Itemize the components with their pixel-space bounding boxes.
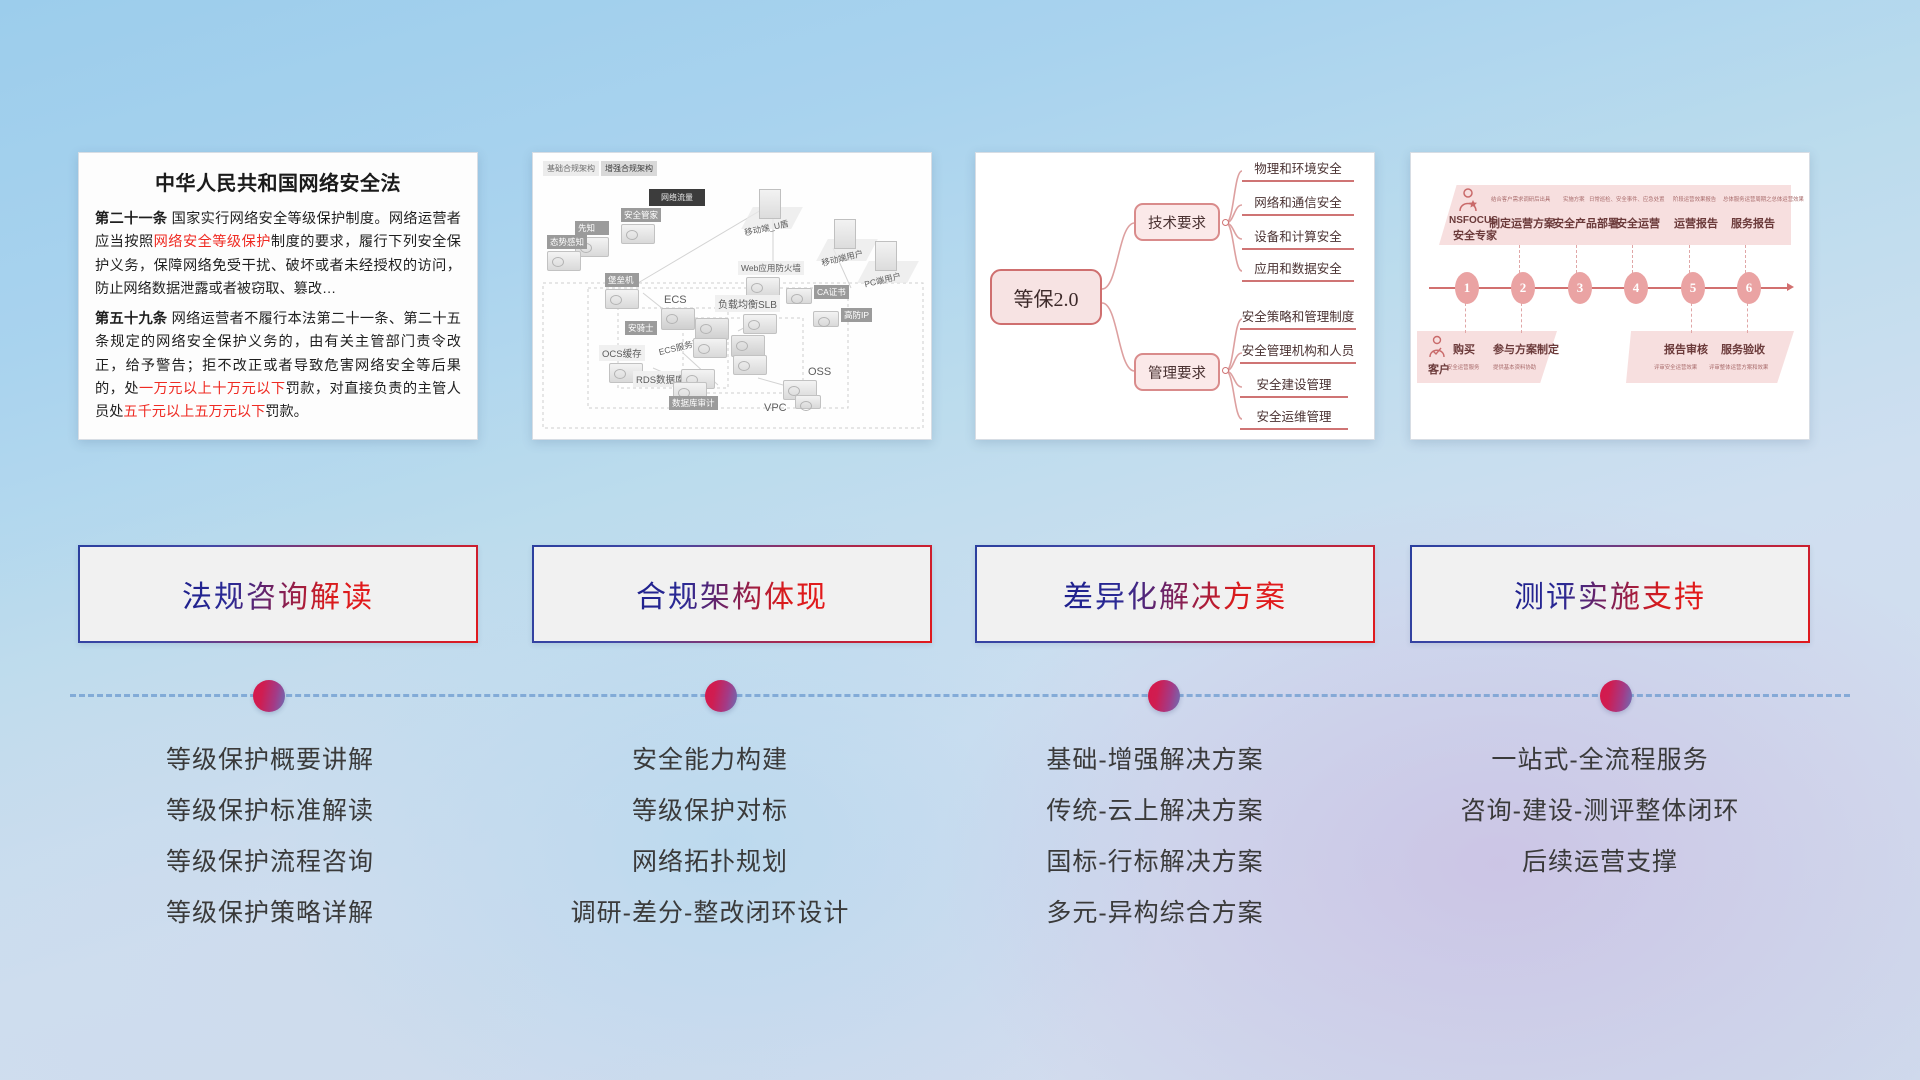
list-item: 后续运营支撑 — [1385, 837, 1815, 888]
section-list-2: 安全能力构建 等级保护对标 网络拓扑规划 调研-差分-整改闭环设计 — [495, 735, 925, 939]
timeline-dot-2[interactable] — [705, 680, 737, 712]
roadmap-axis-arrow-icon — [1787, 283, 1794, 291]
mindmap-leaf: 安全建设管理 — [1240, 374, 1348, 398]
nsfocus-roadmap-card[interactable]: NSFOCUS 安全专家 客户 1 2 3 4 5 6 — [1410, 152, 1810, 440]
roadmap-top-label: 安全产品部署 — [1553, 215, 1619, 231]
list-item: 网络拓扑规划 — [495, 837, 925, 888]
roadmap-top-label: 运营报告 — [1674, 215, 1718, 231]
node-mobile-ukey: 移动端_U盾 — [753, 189, 804, 233]
list-item: 多元-异构综合方案 — [940, 888, 1370, 939]
node-ecs-instance-c — [731, 335, 765, 357]
mindmap-collapse-dot-management[interactable] — [1222, 367, 1229, 374]
node-ecs-instance-d — [733, 355, 767, 375]
node-anqishi: 安骑士 — [625, 321, 657, 335]
roadmap-top-sub: 实施方案 — [1563, 195, 1585, 203]
section-list-3: 基础-增强解决方案 传统-云上解决方案 国标-行标解决方案 多元-异构综合方案 — [940, 735, 1370, 939]
law-run-highlight: 五千元以上五万元以下 — [123, 404, 265, 420]
list-item: 等级保护流程咨询 — [55, 837, 485, 888]
timeline-dot-1[interactable] — [253, 680, 285, 712]
roadmap-bottom-sub: 评审安全运营效果 — [1654, 363, 1697, 371]
roadmap-top-sub: 总体服务运营周期之总体运营效果 — [1723, 195, 1804, 203]
roadmap-bottom-label: 参与方案制定 — [1493, 341, 1559, 357]
section-detail-rows: 等级保护概要讲解 等级保护标准解读 等级保护流程咨询 等级保护策略详解 安全能力… — [0, 735, 1920, 995]
mindmap-leaf: 安全策略和管理制度 — [1240, 306, 1356, 330]
law-run-highlight: 一万元以上十万元以下 — [139, 381, 286, 397]
list-item: 等级保护对标 — [495, 786, 925, 837]
mindmap-collapse-dot-technical[interactable] — [1222, 219, 1229, 226]
list-item: 国标-行标解决方案 — [940, 837, 1370, 888]
roadmap-bottom-label: 服务验收 — [1721, 341, 1765, 357]
roadmap-step-1: 1 — [1455, 272, 1479, 304]
roadmap-bottom-sub: 评审整体运营方案和效果 — [1709, 363, 1768, 371]
roadmap-step-3: 3 — [1568, 272, 1592, 304]
timeline — [0, 666, 1920, 726]
roadmap-top-sub: 结合客户需求调研后出具 — [1491, 195, 1550, 203]
list-item: 等级保护策略详解 — [55, 888, 485, 939]
list-item: 调研-差分-整改闭环设计 — [495, 888, 925, 939]
roadmap-bottom-label: 报告审核 — [1664, 341, 1708, 357]
timeline-dot-4[interactable] — [1600, 680, 1632, 712]
law-card[interactable]: 中华人民共和国网络安全法 第二十一条 国家实行网络安全等级保护制度。网络运营者应… — [78, 152, 478, 440]
list-item: 安全能力构建 — [495, 735, 925, 786]
law-run-highlight: 网络安全等级保护 — [154, 234, 271, 250]
roadmap-top-label: 制定运营方案 — [1489, 215, 1555, 231]
timeline-dot-3[interactable] — [1148, 680, 1180, 712]
section-title-text: 差异化解决方案 — [1063, 572, 1287, 616]
mindmap-card[interactable]: 等保2.0 技术要求 物理和环境安全 网络和通信安全 设备和计算安全 应用和数据… — [975, 152, 1375, 440]
node-pc-user: PC端用户 — [869, 241, 912, 285]
mindmap-branch-technical: 技术要求 — [1134, 203, 1220, 241]
node-database-audit: 数据库审计 — [669, 396, 718, 410]
law-article-1: 第二十一条 — [95, 211, 167, 227]
law-run: 罚款。 — [265, 404, 308, 420]
roadmap-top-sub: 阶段运营效果报告 — [1673, 195, 1716, 203]
roadmap-top-label: 服务报告 — [1731, 215, 1775, 231]
customer-icon — [1425, 335, 1449, 359]
roadmap-top-sub: 日常巡检、安全事件、应急处置 — [1589, 195, 1664, 203]
dengbao-mindmap: 等保2.0 技术要求 物理和环境安全 网络和通信安全 设备和计算安全 应用和数据… — [976, 153, 1374, 439]
list-item: 一站式-全流程服务 — [1385, 735, 1815, 786]
section-title-row: 法规咨询解读 合规架构体现 差异化解决方案 测评实施支持 — [0, 545, 1920, 650]
list-item: 咨询-建设-测评整体闭环 — [1385, 786, 1815, 837]
mindmap-leaf: 安全管理机构和人员 — [1240, 340, 1356, 364]
mindmap-leaf: 设备和计算安全 — [1242, 226, 1354, 250]
roadmap-axis — [1429, 287, 1789, 289]
mindmap-branch-management: 管理要求 — [1134, 353, 1220, 391]
node-anti-ddos-ip: 高防IP — [815, 308, 846, 322]
node-ca-certificate: CA证书 — [788, 285, 823, 299]
roadmap-step-4: 4 — [1624, 272, 1648, 304]
node-ecs: ECS — [661, 293, 695, 330]
roadmap-step-2: 2 — [1511, 272, 1535, 304]
law-paragraph-2: 第五十九条 网络运营者不履行本法第二十一条、第二十五条规定的网络安全保护义务的，… — [95, 308, 461, 425]
image-card-row: 中华人民共和国网络安全法 第二十一条 国家实行网络安全等级保护制度。网络运营者应… — [0, 0, 1920, 460]
roadmap-bottom-label: 购买 — [1453, 341, 1475, 357]
section-title-text: 法规咨询解读 — [182, 572, 374, 616]
law-article-2: 第五十九条 — [95, 311, 167, 327]
section-title-box-4[interactable]: 测评实施支持 — [1410, 545, 1810, 643]
law-title: 中华人民共和国网络安全法 — [95, 167, 461, 196]
node-bastion-host: 堡垒机 — [605, 273, 639, 309]
roadmap-diagram: NSFOCUS 安全专家 客户 1 2 3 4 5 6 — [1411, 153, 1809, 439]
timeline-dashed-line — [70, 694, 1850, 697]
section-title-box-2[interactable]: 合规架构体现 — [532, 545, 932, 643]
section-title-text: 合规架构体现 — [636, 572, 828, 616]
node-security-butler: 安全管家 — [621, 208, 661, 244]
list-item: 传统-云上解决方案 — [940, 786, 1370, 837]
security-expert-icon — [1455, 187, 1481, 213]
cloud-architecture-card[interactable]: 基础合规架构 增强合规架构 — [532, 152, 932, 440]
roadmap-step-5: 5 — [1681, 272, 1705, 304]
node-network-traffic: 网络流量 — [649, 189, 705, 206]
mindmap-root: 等保2.0 — [990, 269, 1102, 325]
law-card-body: 中华人民共和国网络安全法 第二十一条 国家实行网络安全等级保护制度。网络运营者应… — [79, 153, 477, 439]
mindmap-leaf: 物理和环境安全 — [1242, 158, 1354, 182]
list-item: 等级保护标准解读 — [55, 786, 485, 837]
roadmap-bottom-sub: 提供基本资料协助 — [1493, 363, 1536, 371]
architecture-diagram: 基础合规架构 增强合规架构 — [533, 153, 931, 439]
list-item: 基础-增强解决方案 — [940, 735, 1370, 786]
mindmap-leaf: 安全运维管理 — [1240, 406, 1348, 430]
roadmap-bottom-sub: 安全运营服务 — [1447, 363, 1479, 371]
node-vpc: VPC — [761, 401, 790, 415]
roadmap-bottom-band-right — [1626, 331, 1794, 383]
roadmap-top-label: 安全运营 — [1616, 215, 1660, 231]
node-ecs-instance-b — [693, 338, 727, 358]
section-list-1: 等级保护概要讲解 等级保护标准解读 等级保护流程咨询 等级保护策略详解 — [55, 735, 485, 939]
section-title-text: 测评实施支持 — [1514, 572, 1706, 616]
section-title-box-1[interactable]: 法规咨询解读 — [78, 545, 478, 643]
mindmap-leaf: 网络和通信安全 — [1242, 192, 1354, 216]
law-paragraph-1: 第二十一条 国家实行网络安全等级保护制度。网络运营者应当按照网络安全等级保护制度… — [95, 208, 461, 302]
section-title-box-3[interactable]: 差异化解决方案 — [975, 545, 1375, 643]
node-ecs-instance-a — [695, 318, 729, 340]
roadmap-step-6: 6 — [1737, 272, 1761, 304]
list-item: 等级保护概要讲解 — [55, 735, 485, 786]
section-list-4: 一站式-全流程服务 咨询-建设-测评整体闭环 后续运营支撑 — [1385, 735, 1815, 888]
node-situation-awareness: 态势感知 — [547, 235, 587, 271]
mindmap-leaf: 应用和数据安全 — [1242, 258, 1354, 282]
